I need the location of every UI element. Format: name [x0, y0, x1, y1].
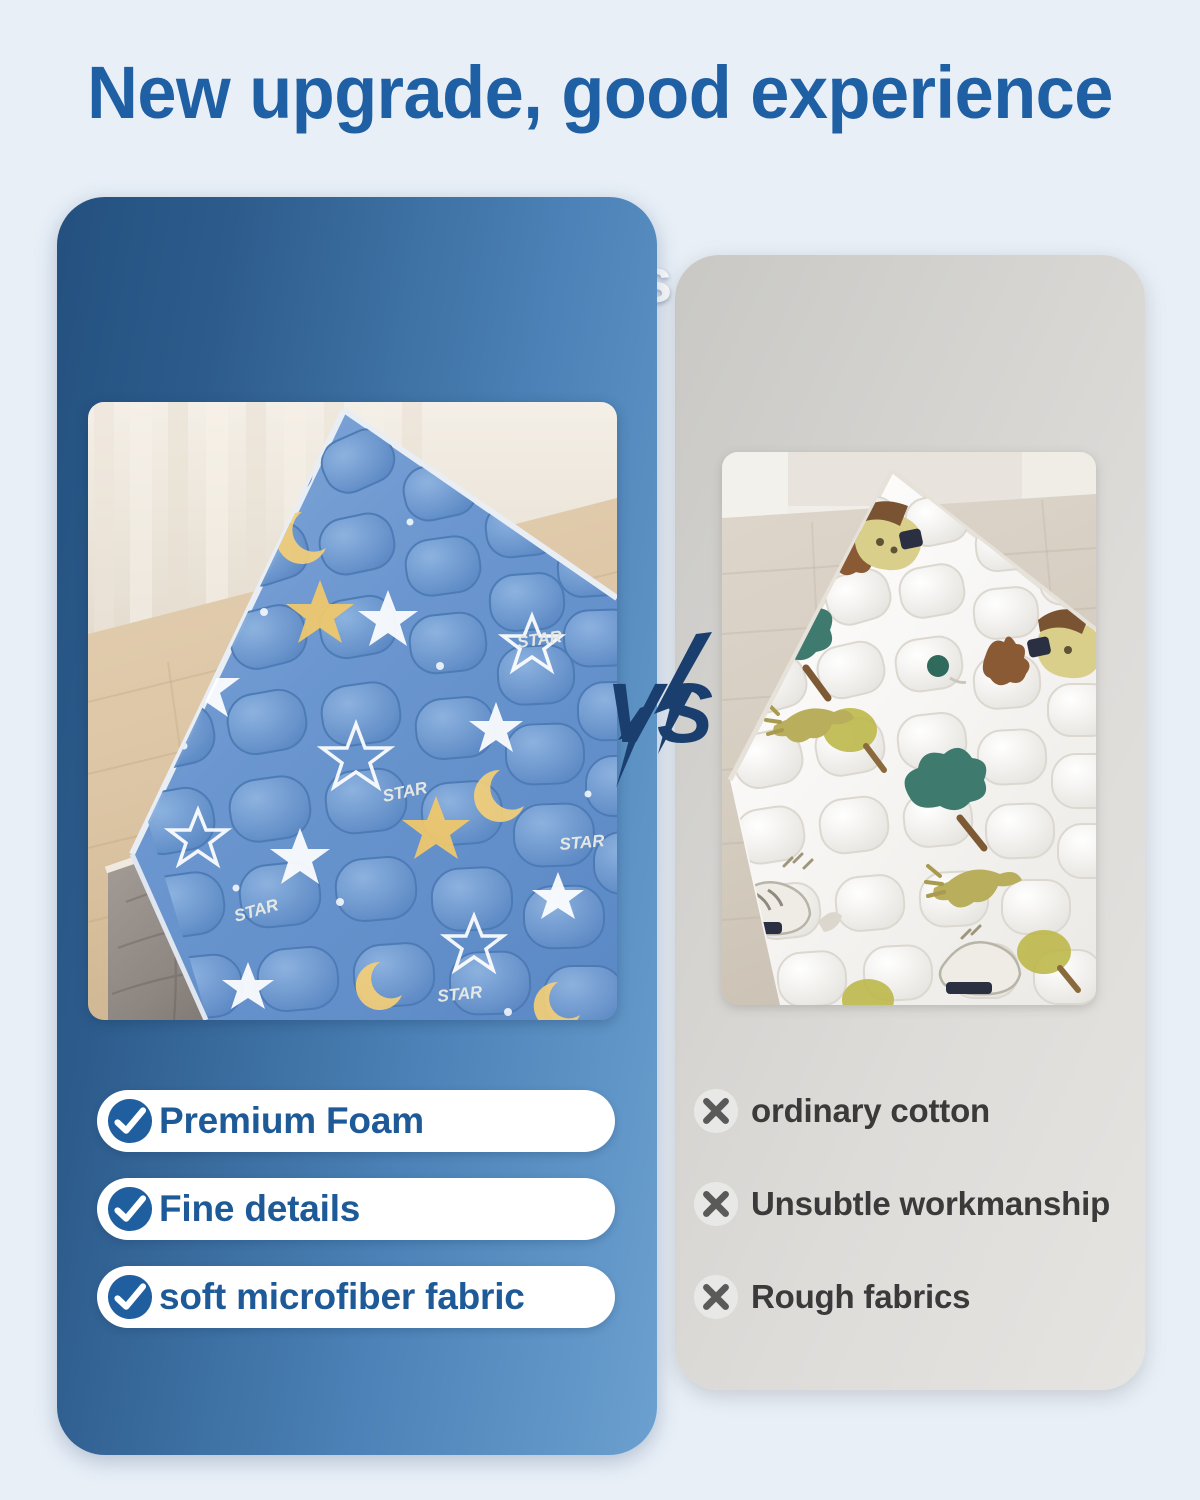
x-circle-icon: [693, 1088, 739, 1134]
check-circle-icon: [107, 1098, 153, 1144]
ours-feature-item[interactable]: Premium Foam: [97, 1090, 615, 1152]
others-feature-item[interactable]: ordinary cotton: [693, 1085, 1143, 1137]
ours-photo-illustration: STAR STAR STAR STAR STAR: [88, 402, 617, 1020]
others-feature-label: Rough fabrics: [751, 1278, 970, 1316]
others-feature-list: ordinary cotton Unsubtle workmanship Rou…: [693, 1085, 1143, 1323]
ours-product-photo: STAR STAR STAR STAR STAR: [88, 402, 617, 1020]
check-circle-icon: [107, 1186, 153, 1232]
others-photo-illustration: [722, 452, 1096, 1005]
ours-feature-item[interactable]: soft microfiber fabric: [97, 1266, 615, 1328]
x-circle-icon: [693, 1181, 739, 1227]
others-feature-item[interactable]: Unsubtle workmanship: [693, 1178, 1143, 1230]
ours-feature-label: Premium Foam: [159, 1100, 424, 1142]
others-feature-label: Unsubtle workmanship: [751, 1185, 1110, 1223]
page-title: New upgrade, good experience: [30, 50, 1170, 135]
others-feature-item[interactable]: Rough fabrics: [693, 1271, 1143, 1323]
others-feature-label: ordinary cotton: [751, 1092, 990, 1130]
infographic-root: New upgrade, good experience Ours: [0, 0, 1200, 1500]
ours-feature-item[interactable]: Fine details: [97, 1178, 615, 1240]
check-circle-icon: [107, 1274, 153, 1320]
others-product-photo: [722, 452, 1096, 1005]
svg-text:STAR: STAR: [559, 831, 606, 854]
x-circle-icon: [693, 1274, 739, 1320]
ours-feature-label: soft microfiber fabric: [159, 1276, 525, 1318]
ours-feature-list: Premium Foam Fine details soft microfibe…: [97, 1090, 619, 1328]
ours-feature-label: Fine details: [159, 1188, 360, 1230]
